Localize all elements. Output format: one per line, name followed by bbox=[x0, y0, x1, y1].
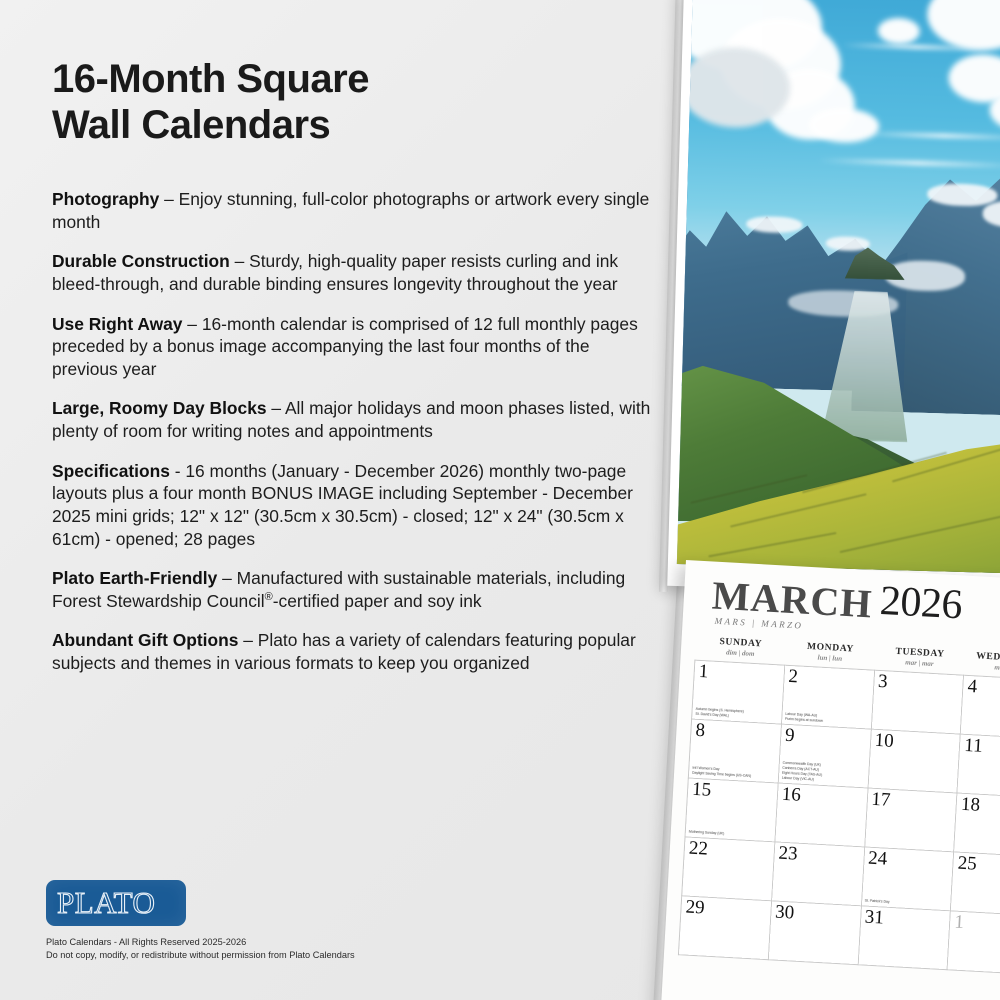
day-number: 16 bbox=[779, 785, 865, 809]
day-number: 22 bbox=[686, 839, 772, 863]
day-number: 29 bbox=[683, 897, 769, 921]
calendar-day-cell[interactable]: 24St. Patrick's Day bbox=[861, 847, 954, 911]
feature-use-right-away: Use Right Away – 16-month calendar is co… bbox=[52, 313, 660, 381]
calendar-table: SUNDAY dim | dom MONDAY lun | lun TUESDA… bbox=[678, 633, 1000, 976]
day-number: 25 bbox=[955, 854, 1000, 878]
day-number: 31 bbox=[862, 907, 948, 931]
copy-panel: 16-Month Square Wall Calendars Photograp… bbox=[0, 0, 690, 1000]
calendar-day-cell[interactable]: 15Mothering Sunday (UK) bbox=[685, 778, 778, 842]
calendar-day-cell[interactable]: 17 bbox=[864, 788, 957, 852]
feature-durable-construction: Durable Construction – Sturdy, high-qual… bbox=[52, 250, 660, 295]
feature-heading: Specifications bbox=[52, 461, 170, 481]
day-number: 11 bbox=[962, 736, 1000, 760]
day-number: 3 bbox=[875, 672, 961, 696]
logo-badge: PLATO bbox=[46, 880, 186, 926]
registered-trademark-mark: ® bbox=[265, 591, 273, 603]
feature-heading: Large, Roomy Day Blocks bbox=[52, 398, 267, 418]
feature-body-continued: -certified paper and soy ink bbox=[273, 591, 482, 611]
calendar-year: 2026 bbox=[879, 577, 964, 630]
day-number: 17 bbox=[869, 790, 955, 814]
calendar-day-cell[interactable]: 8Int'l Women's DayDaylight Saving Time b… bbox=[688, 719, 781, 783]
calendar-day-cell[interactable]: 23 bbox=[771, 842, 864, 906]
feature-earth-friendly: Plato Earth-Friendly – Manufactured with… bbox=[52, 567, 660, 612]
copyright-line-2: Do not copy, modify, or redistribute wit… bbox=[46, 949, 476, 962]
calendar-grid-page: MARCH 2026 MARS | MARZO SUNDAY dim | dom… bbox=[661, 560, 1000, 1000]
feature-dash: – bbox=[238, 630, 257, 650]
calendar-day-cell[interactable]: 18 bbox=[954, 793, 1000, 857]
day-number: 9 bbox=[783, 726, 869, 750]
day-number: 23 bbox=[776, 844, 862, 868]
day-number: 1 bbox=[696, 662, 782, 686]
calendar-day-cell[interactable]: 4Full Moon 11:38 UT bbox=[960, 675, 1000, 739]
calendar-month-header: MARCH 2026 MARS | MARZO bbox=[697, 569, 1000, 640]
feature-heading: Photography bbox=[52, 189, 159, 209]
feature-dash: - bbox=[170, 461, 185, 481]
feature-heading: Plato Earth-Friendly bbox=[52, 568, 217, 588]
calendar-photo-page bbox=[667, 0, 1000, 595]
day-number: 30 bbox=[773, 902, 859, 926]
calendar-day-cell[interactable]: 10 bbox=[868, 729, 961, 793]
mountain-photograph bbox=[677, 0, 1000, 573]
calendar-day-cell[interactable]: 16 bbox=[775, 783, 868, 847]
feature-heading: Durable Construction bbox=[52, 251, 230, 271]
calendar-product-photo: MARCH 2026 MARS | MARZO SUNDAY dim | dom… bbox=[676, 0, 1000, 1000]
day-events: Commonwealth Day (UK)Canberra Day (ACT-A… bbox=[782, 761, 867, 785]
calendar-day-cell[interactable]: 30 bbox=[768, 901, 861, 965]
logo-wordmark: PLATO bbox=[57, 885, 155, 921]
product-marketing-image: 16-Month Square Wall Calendars Photograp… bbox=[0, 0, 1000, 1000]
feature-list: Photography – Enjoy stunning, full-color… bbox=[52, 188, 660, 692]
calendar-day-cell[interactable]: 25 bbox=[951, 852, 1000, 916]
calendar-day-cell[interactable]: 29 bbox=[678, 896, 771, 960]
page-title: 16-Month Square Wall Calendars bbox=[52, 56, 652, 149]
weekday-sub: mer | miér bbox=[964, 662, 1000, 675]
day-number: 2 bbox=[786, 667, 872, 691]
calendar-day-cell[interactable]: 1Autumn begins (S. Hemisphere)St. David'… bbox=[692, 660, 785, 724]
copyright-line-1: Plato Calendars - All Rights Reserved 20… bbox=[46, 936, 476, 949]
calendar-day-cell[interactable]: 22 bbox=[682, 837, 775, 901]
day-number: 1 bbox=[952, 912, 1000, 936]
title-line-1: 16-Month Square bbox=[52, 56, 652, 102]
day-number: 15 bbox=[690, 780, 776, 804]
feature-gift-options: Abundant Gift Options – Plato has a vari… bbox=[52, 629, 660, 674]
day-number: 8 bbox=[693, 721, 779, 745]
calendar-day-cell[interactable]: 3 bbox=[871, 670, 964, 734]
feature-heading: Abundant Gift Options bbox=[52, 630, 238, 650]
feature-dash: – bbox=[217, 568, 236, 588]
feature-photography: Photography – Enjoy stunning, full-color… bbox=[52, 188, 660, 233]
calendar-grid-inner: MARCH 2026 MARS | MARZO SUNDAY dim | dom… bbox=[675, 569, 1000, 1000]
calendar-day-cell[interactable]: 11 bbox=[957, 734, 1000, 798]
day-number: 4 bbox=[965, 677, 1000, 701]
day-number: 24 bbox=[866, 849, 952, 873]
title-line-2: Wall Calendars bbox=[52, 102, 652, 148]
feature-dash: – bbox=[159, 189, 178, 209]
calendar-body: 1Autumn begins (S. Hemisphere)St. David'… bbox=[678, 660, 1000, 975]
calendar-day-cell[interactable]: 31 bbox=[858, 906, 951, 970]
calendar-day-cell[interactable]: 2Labour Day (WA-AU)Purim begins at sundo… bbox=[781, 665, 874, 729]
day-number: 10 bbox=[872, 731, 958, 755]
feature-dash: – bbox=[267, 398, 285, 418]
copyright-footer: Plato Calendars - All Rights Reserved 20… bbox=[46, 936, 476, 963]
feature-dash: – bbox=[182, 314, 201, 334]
brand-logo: PLATO bbox=[46, 880, 186, 926]
feature-day-blocks: Large, Roomy Day Blocks – All major holi… bbox=[52, 397, 660, 442]
day-number: 18 bbox=[959, 795, 1000, 819]
feature-dash: – bbox=[230, 251, 249, 271]
calendar-day-cell[interactable]: 1 bbox=[947, 911, 1000, 975]
feature-specifications: Specifications - 16 months (January - De… bbox=[52, 460, 660, 551]
calendar-day-cell[interactable]: 9Commonwealth Day (UK)Canberra Day (ACT-… bbox=[778, 724, 871, 788]
feature-heading: Use Right Away bbox=[52, 314, 182, 334]
